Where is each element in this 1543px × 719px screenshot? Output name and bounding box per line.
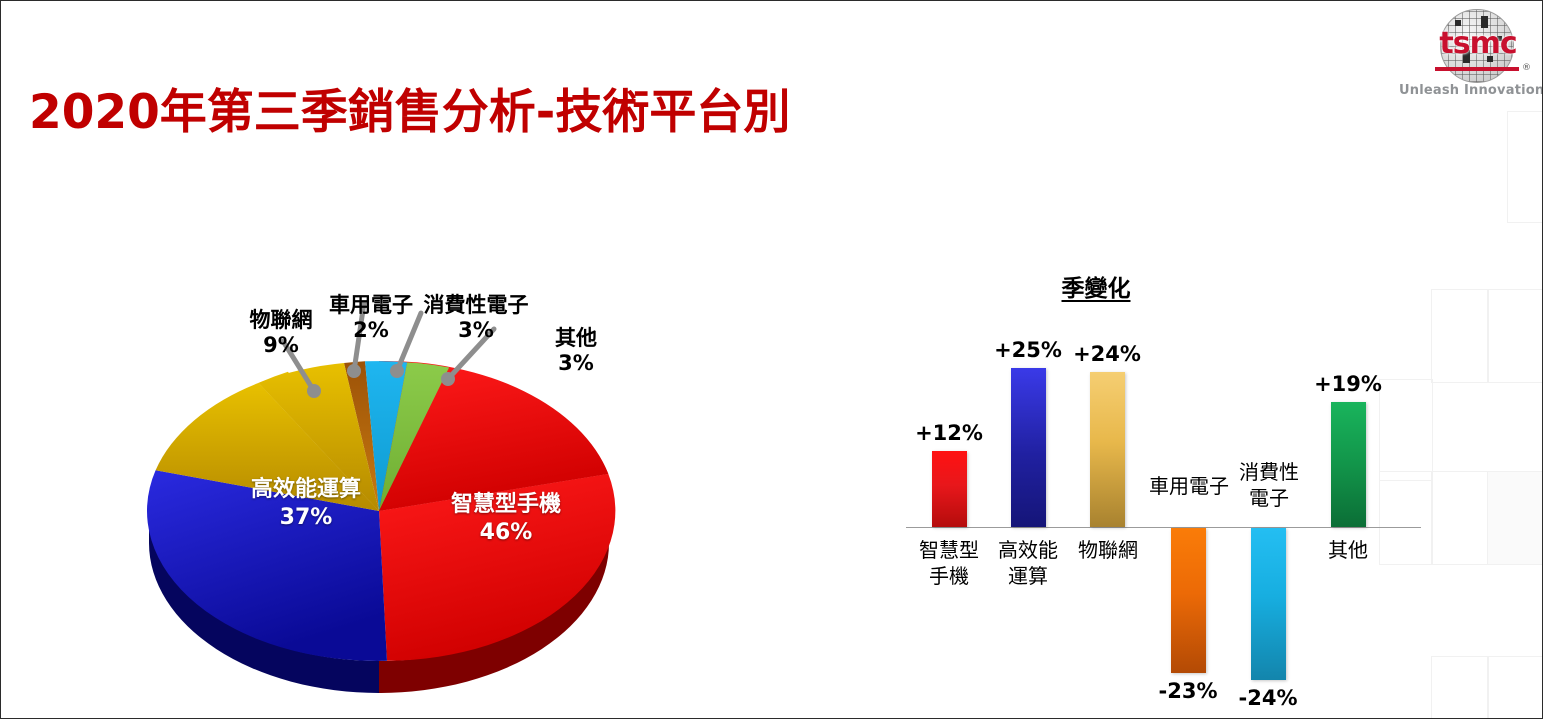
bar-hpc (1011, 368, 1046, 527)
bar-category-smartphone-line2: 手機 (904, 563, 994, 589)
bar-iot (1090, 372, 1125, 527)
bar-chart: 季變化 +12% +25% +24% -23% -24% +19% 智慧型 手機… (881, 251, 1421, 719)
bar-category-smartphone: 智慧型 手機 (904, 537, 994, 589)
bar-value-automotive: -23% (1148, 679, 1228, 703)
pie-slice-label-smartphone-value: 46% (411, 519, 601, 547)
bar-category-consumer-line2: 電子 (1224, 485, 1314, 511)
bar-category-hpc-line2: 運算 (983, 563, 1073, 589)
pie-callout-others: 其他 3% (531, 326, 621, 376)
pie-callout-consumer: 消費性電子 3% (411, 293, 541, 343)
pie-slice-label-hpc: 高效能運算 37% (211, 476, 401, 532)
pie-callout-others-name: 其他 (531, 326, 621, 351)
bar-value-hpc: +25% (988, 338, 1068, 362)
bar-category-hpc: 高效能 運算 (983, 537, 1073, 589)
bar-value-smartphone: +12% (909, 421, 989, 445)
tsmc-wordmark: tsmc (1430, 29, 1526, 59)
bar-category-others-line1: 其他 (1303, 537, 1393, 563)
bar-others (1331, 402, 1366, 527)
bar-category-smartphone-line1: 智慧型 (904, 537, 994, 563)
pie-slice-label-hpc-value: 37% (211, 504, 401, 532)
bar-automotive (1171, 528, 1206, 673)
bar-smartphone (932, 451, 967, 527)
pie-callout-others-value: 3% (531, 351, 621, 376)
bar-consumer (1251, 528, 1286, 680)
logo-underline (1435, 67, 1519, 71)
pie-slice-label-smartphone: 智慧型手機 46% (411, 491, 601, 547)
tsmc-logo: tsmc ® Unleash Innovation (1418, 7, 1538, 99)
pie-slice-label-hpc-name: 高效能運算 (211, 476, 401, 504)
bar-category-consumer: 消費性 電子 (1224, 459, 1314, 511)
bar-category-others: 其他 (1303, 537, 1393, 563)
bar-value-iot: +24% (1067, 342, 1147, 366)
logo-tagline: Unleash Innovation (1399, 83, 1543, 98)
pie-slice-label-smartphone-name: 智慧型手機 (411, 491, 601, 519)
pie-chart: 物聯網 9% 車用電子 2% 消費性電子 3% 其他 3% 高效能運算 37% … (111, 281, 671, 701)
bar-chart-title: 季變化 (881, 269, 1311, 303)
bar-category-hpc-line1: 高效能 (983, 537, 1073, 563)
bar-category-consumer-line1: 消費性 (1224, 459, 1314, 485)
bar-category-iot: 物聯網 (1062, 537, 1154, 563)
pie-callout-consumer-name: 消費性電子 (411, 293, 541, 318)
bar-category-iot-line1: 物聯網 (1062, 537, 1154, 563)
pie-callout-consumer-value: 3% (411, 318, 541, 343)
zero-axis-line (906, 527, 1421, 528)
page-title: 2020年第三季銷售分析-技術平台別 (29, 73, 790, 142)
slide-canvas: tsmc ® Unleash Innovation 2020年第三季銷售分析-技… (0, 0, 1543, 719)
bar-value-others: +19% (1308, 372, 1388, 396)
bar-value-consumer: -24% (1228, 686, 1308, 710)
registered-mark-icon: ® (1522, 63, 1531, 73)
